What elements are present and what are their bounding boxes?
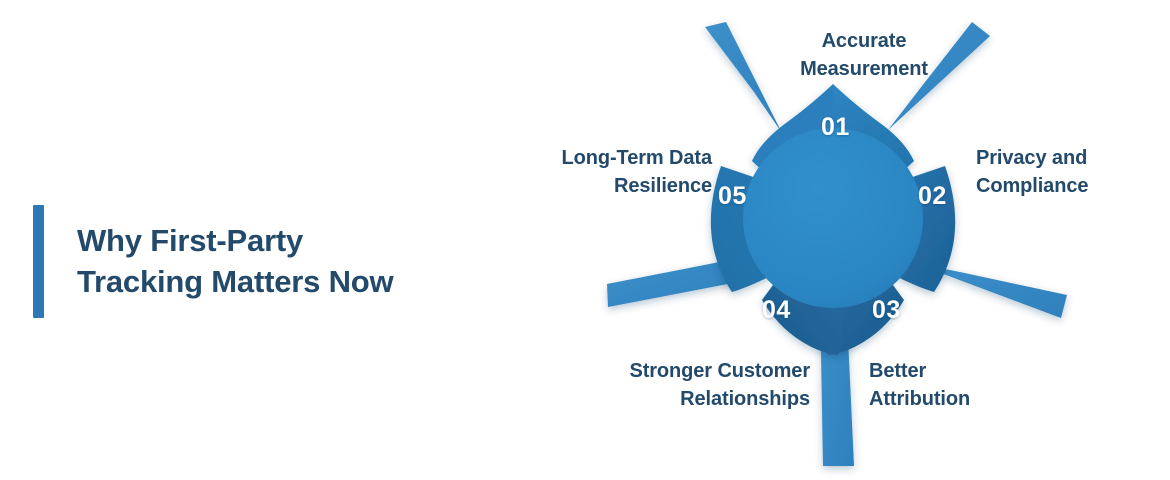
infographic-root: Why First-Party Tracking Matters Now [0,0,1170,480]
petal-label-accurate-measurement: Accurate Measurement [744,27,984,84]
page-title: Why First-Party Tracking Matters Now [77,221,393,303]
center-circle [743,128,923,308]
accent-bar [33,205,44,318]
petal-label-better-attribution: Better Attribution [869,357,1069,414]
heading-block: Why First-Party Tracking Matters Now [33,205,393,318]
petal-label-privacy-and-compliance: Privacy and Compliance [976,144,1170,201]
petal-label-stronger-customer-relationships: Stronger Customer Relationships [510,357,810,414]
petal-wheel-diagram: 01 02 03 04 05 Accurate Measurement Priv… [490,0,1170,480]
petal-label-long-term-data-resilience: Long-Term Data Resilience [490,144,712,201]
